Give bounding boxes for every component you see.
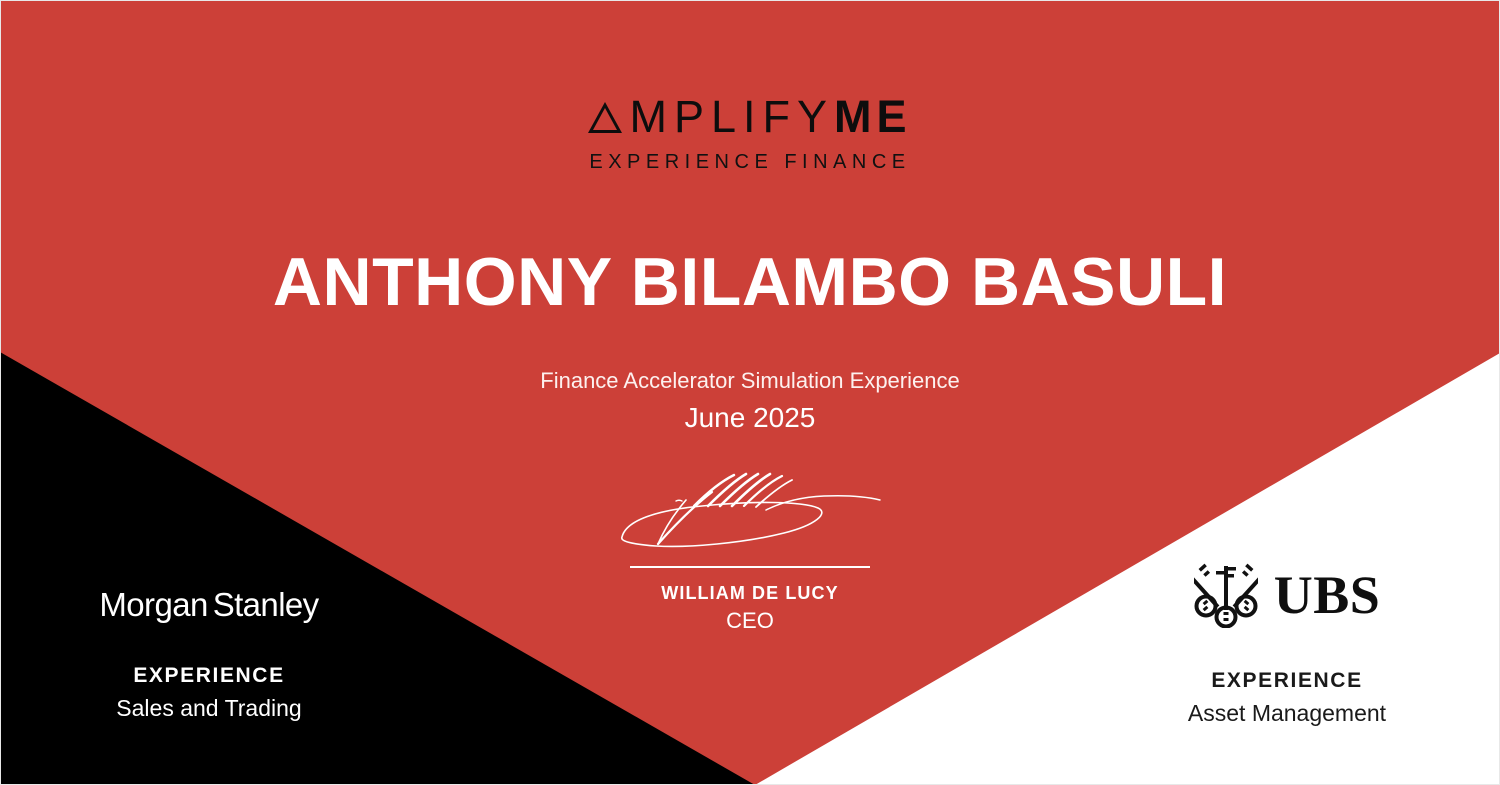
brand-tagline: EXPERIENCE FINANCE — [0, 151, 1500, 174]
course-date: June 2025 — [0, 401, 1500, 435]
partner-track-left: Sales and Trading — [48, 694, 370, 723]
ubs-logo: UBS — [1122, 558, 1452, 632]
brand-logo: MPLIFYME EXPERIENCE FINANCE — [0, 92, 1500, 174]
morgan-stanley-wordmark-icon: MorganStanley — [48, 585, 370, 625]
certificate-canvas: MPLIFYME EXPERIENCE FINANCE ANTHONY BILA… — [0, 0, 1500, 785]
signatory-name: WILLIAM DE LUCY — [600, 582, 900, 604]
signature-rule — [630, 566, 870, 568]
ubs-wordmark: UBS — [1274, 566, 1381, 624]
partner-experience-label-right: EXPERIENCE — [1122, 668, 1452, 694]
partner-track-right: Asset Management — [1122, 699, 1452, 728]
signatory-role: CEO — [600, 608, 900, 634]
partner-experience-label-left: EXPERIENCE — [48, 663, 370, 689]
handwritten-signature-icon — [600, 470, 900, 562]
ubs-three-keys-icon — [1194, 562, 1258, 628]
brand-wordmark-bold: ME — [834, 91, 912, 142]
recipient-name: ANTHONY BILAMBO BASULI — [0, 240, 1500, 324]
partner-ubs: UBS EXPERIENCE Asset Management — [1122, 558, 1452, 728]
course-info: Finance Accelerator Simulation Experienc… — [0, 366, 1500, 435]
course-title: Finance Accelerator Simulation Experienc… — [0, 366, 1500, 396]
morgan-stanley-word-second: Stanley — [213, 586, 319, 623]
morgan-stanley-word-first: Morgan — [99, 586, 207, 623]
partner-morgan-stanley: MorganStanley EXPERIENCE Sales and Tradi… — [48, 585, 370, 723]
brand-wordmark-light: MPLIFY — [629, 91, 834, 142]
triangle-a-icon — [588, 102, 622, 133]
brand-wordmark: MPLIFYME — [588, 92, 911, 142]
signature-block: WILLIAM DE LUCY CEO — [600, 470, 900, 634]
